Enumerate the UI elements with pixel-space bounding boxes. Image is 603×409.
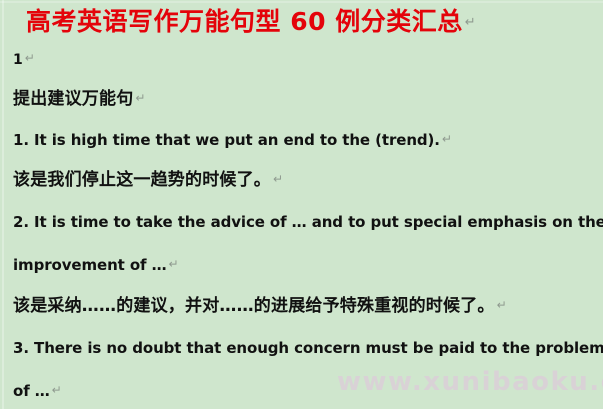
section-heading-text: 提出建议万能句	[13, 89, 133, 109]
section-number-line: 1↵	[13, 48, 601, 70]
site-watermark: www.xunibaoku.com	[337, 369, 603, 395]
paragraph-mark-icon: ↵	[440, 132, 452, 146]
item-1-english-text: 1. It is high time that we put an end to…	[13, 131, 440, 149]
paragraph-mark-icon: ↵	[495, 298, 507, 312]
paragraph-mark-icon: ↵	[463, 15, 476, 30]
document-text-body: 高考英语写作万能句型 60 例分类汇总↵ 1↵ 提出建议万能句↵ 1. It i…	[0, 0, 603, 409]
document-title: 高考英语写作万能句型 60 例分类汇总↵	[26, 6, 603, 39]
paragraph-mark-icon: ↵	[23, 51, 35, 65]
section-heading-line: 提出建议万能句↵	[13, 87, 601, 110]
document-title-text: 高考英语写作万能句型 60 例分类汇总	[26, 7, 463, 36]
item-2-english-text-2: improvement of …	[13, 256, 167, 274]
item-2-chinese-line: 该是采纳……的建议，并对……的进展给予特殊重视的时候了。↵	[13, 294, 601, 317]
item-2-english-line-1: 2. It is time to take the advice of … an…	[13, 211, 601, 233]
paragraph-mark-icon: ↵	[50, 383, 62, 397]
item-1-chinese-text: 该是我们停止这一趋势的时候了。	[13, 170, 271, 190]
paragraph-mark-icon: ↵	[167, 257, 179, 271]
item-3-english-text-1: 3. There is no doubt that enough concern…	[13, 339, 603, 357]
item-2-english-line-2: improvement of …↵	[13, 253, 601, 276]
item-1-english-line: 1. It is high time that we put an end to…	[13, 128, 601, 151]
item-2-chinese-text: 该是采纳……的建议，并对……的进展给予特殊重视的时候了。	[13, 296, 495, 316]
section-number-text: 1	[13, 52, 23, 68]
item-1-chinese-line: 该是我们停止这一趋势的时候了。↵	[13, 168, 601, 191]
item-2-english-text-1: 2. It is time to take the advice of … an…	[13, 213, 603, 231]
paragraph-mark-icon: ↵	[133, 91, 145, 105]
document-page: 高考英语写作万能句型 60 例分类汇总↵ 1↵ 提出建议万能句↵ 1. It i…	[0, 0, 603, 409]
paragraph-mark-icon: ↵	[271, 172, 283, 186]
item-3-english-text-2: of …	[13, 382, 50, 400]
item-3-english-line-1: 3. There is no doubt that enough concern…	[13, 337, 601, 359]
